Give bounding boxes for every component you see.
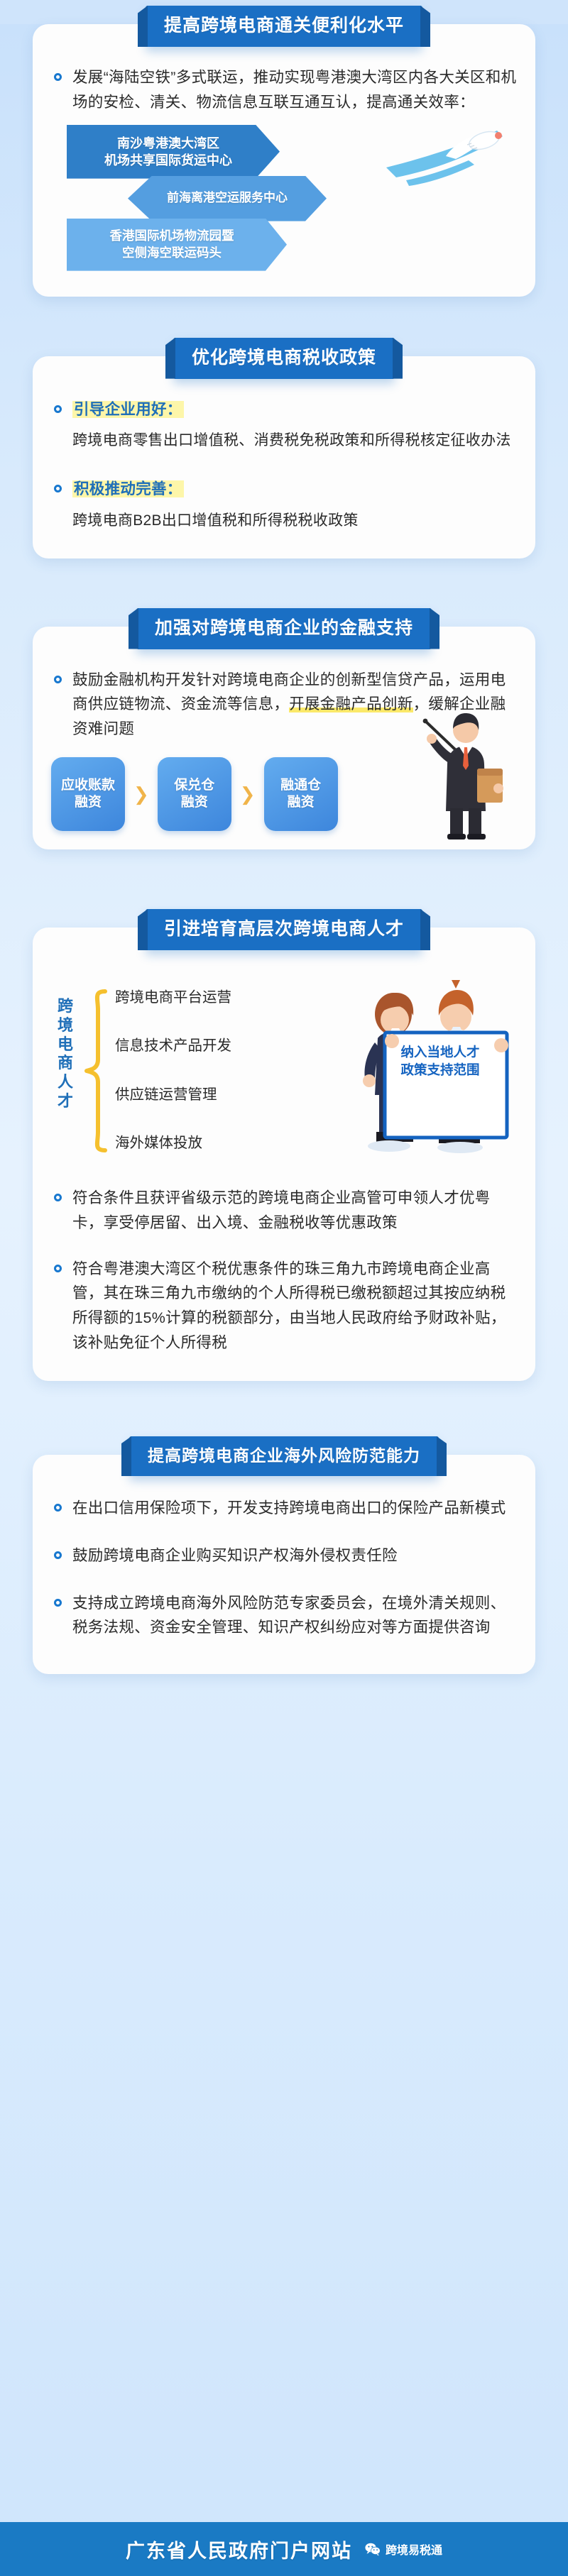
section-financial-support-card: 鼓励金融机构开发针对跨境电商企业的创新型信贷产品，运用电商供应链物流、资金流等信… <box>33 627 535 849</box>
chevron-right-icon: ❯ <box>133 785 149 803</box>
section-tax-policy: 优化跨境电商税收政策 引导企业用好： 跨境电商零售出口增值税、消费税免税政策和所… <box>33 356 535 558</box>
talent-item: 供应链运营管理 <box>115 1086 231 1105</box>
section-customs-title: 提高跨境电商通关便利化水平 <box>146 6 422 47</box>
chip-line2: 融资 <box>75 794 102 811</box>
chevron-label: 香港国际机场物流园暨 空侧海空联运码头 <box>110 228 234 261</box>
section-tax-policy-title: 优化跨境电商税收政策 <box>173 338 395 379</box>
bullet-dot-icon <box>54 485 62 492</box>
chevron-label: 南沙粤港澳大湾区 机场共享国际货运中心 <box>104 135 232 169</box>
chevron-hongkong: 香港国际机场物流园暨 空侧海空联运码头 <box>67 219 287 271</box>
footer-title: 广东省人民政府门户网站 <box>126 2536 352 2563</box>
bullet-dot-icon <box>54 405 62 413</box>
brace-icon <box>84 989 108 1153</box>
section-tax-policy-card: 引导企业用好： 跨境电商零售出口增值税、消费税免税政策和所得税核定征收办法 积极… <box>33 356 535 558</box>
chip-line2: 融资 <box>288 794 315 811</box>
item-label: 积极推动完善： <box>72 480 184 497</box>
section-overseas-risk-title: 提高跨境电商企业海外风险防范能力 <box>129 1436 439 1476</box>
airplane-illustration <box>378 112 513 197</box>
bullet-dot-icon <box>54 73 62 81</box>
bullet-text: 在出口信用保险项下，开发支持跨境电商出口的保险产品新模式 <box>72 1499 506 1517</box>
footer-account-name: 跨境易税通 <box>386 2541 442 2558</box>
talent-diagram: 跨境电商人才 跨境电商平台运营 信息技术产品开发 供应链运营管理 海外媒体投放 <box>51 979 517 1156</box>
chip-line1: 融通仓 <box>280 777 321 794</box>
section-overseas-risk: 提高跨境电商企业海外风险防范能力 在出口信用保险项下，开发支持跨境电商出口的保险… <box>33 1455 535 1674</box>
section-financial-support-title: 加强对跨境电商企业的金融支持 <box>136 608 432 649</box>
talent-item: 信息技术产品开发 <box>115 1037 231 1056</box>
talent-vertical-label: 跨境电商人才 <box>51 997 80 1111</box>
item-label: 引导企业用好： <box>72 401 184 418</box>
bullet-dot-icon <box>54 1599 62 1607</box>
item-text: 跨境电商B2B出口增值税和所得税税收政策 <box>72 509 517 533</box>
chip-line1: 应收账款 <box>61 777 115 794</box>
footer-account[interactable]: 跨境易税通 <box>365 2541 442 2558</box>
chip-receivable-financing: 应收账款 融资 <box>51 757 125 831</box>
bullet-text: 鼓励跨境电商企业购买知识产权海外侵权责任险 <box>72 1547 398 1564</box>
item-text: 跨境电商零售出口增值税、消费税免税政策和所得税核定征收办法 <box>72 429 517 453</box>
bullet-item: 引导企业用好： 跨境电商零售出口增值税、消费税免税政策和所得税核定征收办法 <box>51 397 517 453</box>
bullet-item: 在出口信用保险项下，开发支持跨境电商出口的保险产品新模式 <box>51 1496 517 1521</box>
section-talent-bullets: 符合条件且获评省级示范的跨境电商企业高管可申领人才优粤卡，享受停居留、出入境、金… <box>51 1186 517 1355</box>
section-tax-policy-items: 引导企业用好： 跨境电商零售出口增值税、消费税免税政策和所得税核定征收办法 积极… <box>51 397 517 533</box>
section-talent-ribbon-wrap: 引进培育高层次跨境电商人才 <box>33 909 535 950</box>
bullet-item: 鼓励跨境电商企业购买知识产权海外侵权责任险 <box>51 1543 517 1568</box>
section-overseas-risk-card: 在出口信用保险项下，开发支持跨境电商出口的保险产品新模式 鼓励跨境电商企业购买知… <box>33 1455 535 1674</box>
bullet-dot-icon <box>54 676 62 683</box>
section-financial-support-ribbon-wrap: 加强对跨境电商企业的金融支持 <box>33 608 535 649</box>
bullet-dot-icon <box>54 1194 62 1201</box>
chevron-qianhai: 前海离港空运服务中心 <box>128 176 327 221</box>
bullet-text-underlined: 开展金融产品创新 <box>289 695 413 712</box>
chip-circulating-warehouse-financing: 融通仓 融资 <box>264 757 338 831</box>
businessman-pointer-illustration <box>415 698 515 840</box>
infographic-page: 提高跨境电商通关便利化水平 发展“海陆空铁”多式联运，推动实现粤港澳大湾区内各大… <box>0 24 568 2576</box>
section-customs-card: 发展“海陆空铁”多式联运，推动实现粤港澳大湾区内各大关区和机场的安检、清关、物流… <box>33 24 535 297</box>
section-overseas-risk-bullets: 在出口信用保险项下，开发支持跨境电商出口的保险产品新模式 鼓励跨境电商企业购买知… <box>51 1496 517 1640</box>
section-customs: 提高跨境电商通关便利化水平 发展“海陆空铁”多式联运，推动实现粤港澳大湾区内各大… <box>33 24 535 297</box>
chevron-right-icon: ❯ <box>240 785 256 803</box>
section-talent-title: 引进培育高层次跨境电商人才 <box>146 909 422 950</box>
section-financial-support: 加强对跨境电商企业的金融支持 鼓励金融机构开发针对跨境电商企业的创新型信贷产品，… <box>33 627 535 849</box>
talent-item: 海外媒体投放 <box>115 1134 231 1153</box>
bullet-item: 发展“海陆空铁”多式联运，推动实现粤港澳大湾区内各大关区和机场的安检、清关、物流… <box>51 65 517 115</box>
bullet-item: 符合粤港澳大湾区个税优惠条件的珠三角九市跨境电商企业高管，其在珠三角九市缴纳的个… <box>51 1257 517 1355</box>
section-talent: 引进培育高层次跨境电商人才 跨境电商人才 跨境电商平台运营 信息技术产品开发 供… <box>33 928 535 1381</box>
bullet-text: 支持成立跨境电商海外风险防范专家委员会，在境外清关规则、税务法规、资金安全管理、… <box>72 1595 506 1636</box>
section-overseas-risk-ribbon-wrap: 提高跨境电商企业海外风险防范能力 <box>33 1436 535 1476</box>
section-tax-policy-ribbon-wrap: 优化跨境电商税收政策 <box>33 338 535 379</box>
bullet-text: 发展“海陆空铁”多式联运，推动实现粤港澳大湾区内各大关区和机场的安检、清关、物流… <box>72 69 516 111</box>
chip-line2: 融资 <box>181 794 208 811</box>
talent-item: 跨境电商平台运营 <box>115 989 231 1008</box>
section-talent-card: 跨境电商人才 跨境电商平台运营 信息技术产品开发 供应链运营管理 海外媒体投放 <box>33 928 535 1381</box>
bullet-dot-icon <box>54 1551 62 1559</box>
bullet-text: 符合粤港澳大湾区个税优惠条件的珠三角九市跨境电商企业高管，其在珠三角九市缴纳的个… <box>72 1260 506 1351</box>
bullet-dot-icon <box>54 1504 62 1512</box>
bullet-item: 积极推动完善： 跨境电商B2B出口增值税和所得税税收政策 <box>51 477 517 532</box>
section-customs-bullets: 发展“海陆空铁”多式联运，推动实现粤港澳大湾区内各大关区和机场的安检、清关、物流… <box>51 65 517 115</box>
finance-chip-group: 应收账款 融资 ❯ 保兑仓 融资 ❯ 融通仓 融资 <box>51 757 517 831</box>
wechat-icon <box>365 2543 381 2556</box>
bullet-item: 支持成立跨境电商海外风险防范专家委员会，在境外清关规则、税务法规、资金安全管理、… <box>51 1591 517 1641</box>
customs-chevron-group: 南沙粤港澳大湾区 机场共享国际货运中心 前海离港空运服务中心 香港国际机场物流园… <box>51 125 517 275</box>
section-customs-ribbon-wrap: 提高跨境电商通关便利化水平 <box>33 6 535 47</box>
signboard-text: 纳入当地人才 政策支持范围 <box>382 1044 498 1079</box>
bullet-text: 符合条件且获评省级示范的跨境电商企业高管可申领人才优粤卡，享受停居留、出入境、金… <box>72 1189 491 1231</box>
chevron-nansha: 南沙粤港澳大湾区 机场共享国际货运中心 <box>67 125 280 179</box>
bullet-item: 符合条件且获评省级示范的跨境电商企业高管可申领人才优粤卡，享受停居留、出入境、金… <box>51 1186 517 1235</box>
chip-line1: 保兑仓 <box>174 777 214 794</box>
chevron-label: 前海离港空运服务中心 <box>167 190 288 207</box>
chip-guaranteed-warehouse-financing: 保兑仓 融资 <box>158 757 231 831</box>
footer-bar: 广东省人民政府门户网站 跨境易税通 <box>0 2522 568 2576</box>
bullet-dot-icon <box>54 1265 62 1272</box>
talent-item-list: 跨境电商平台运营 信息技术产品开发 供应链运营管理 海外媒体投放 <box>115 989 231 1153</box>
